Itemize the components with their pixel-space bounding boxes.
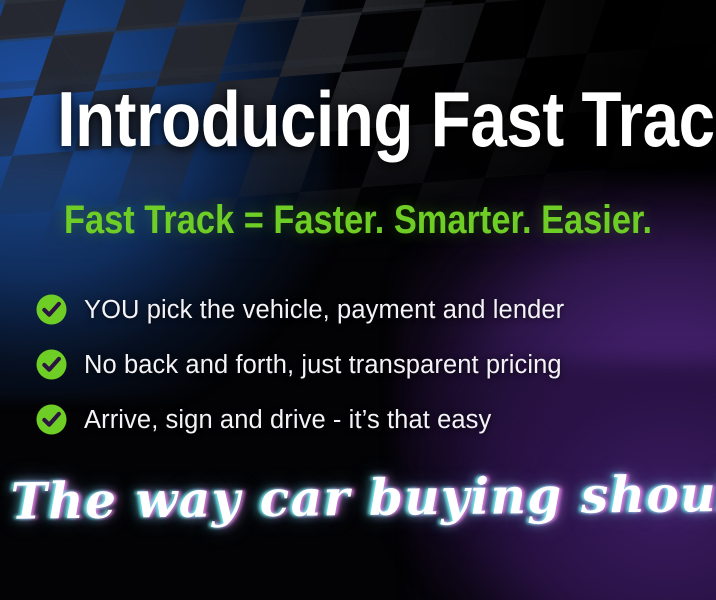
check-circle-icon (36, 349, 67, 380)
fast-track-promo-poster: Introducing Fast Track Fast Track = Fast… (0, 0, 716, 600)
check-circle-icon (36, 404, 67, 435)
list-item: No back and forth, just transparent pric… (36, 337, 676, 392)
list-item-label: No back and forth, just transparent pric… (84, 350, 562, 380)
list-item-label: YOU pick the vehicle, payment and lender (84, 295, 564, 325)
page-title: Introducing Fast Track (57, 80, 658, 158)
list-item-label: Arrive, sign and drive - it’s that easy (84, 405, 491, 435)
list-item: YOU pick the vehicle, payment and lender (36, 282, 676, 337)
list-item: Arrive, sign and drive - it’s that easy (36, 392, 676, 447)
poster-content: Introducing Fast Track Fast Track = Fast… (0, 0, 716, 600)
tagline-script-text: The way car buying should be. (10, 462, 705, 533)
benefits-list: YOU pick the vehicle, payment and lender… (36, 282, 676, 447)
page-subtitle: Fast Track = Faster. Smarter. Easier. (50, 198, 666, 242)
check-circle-icon (36, 294, 67, 325)
